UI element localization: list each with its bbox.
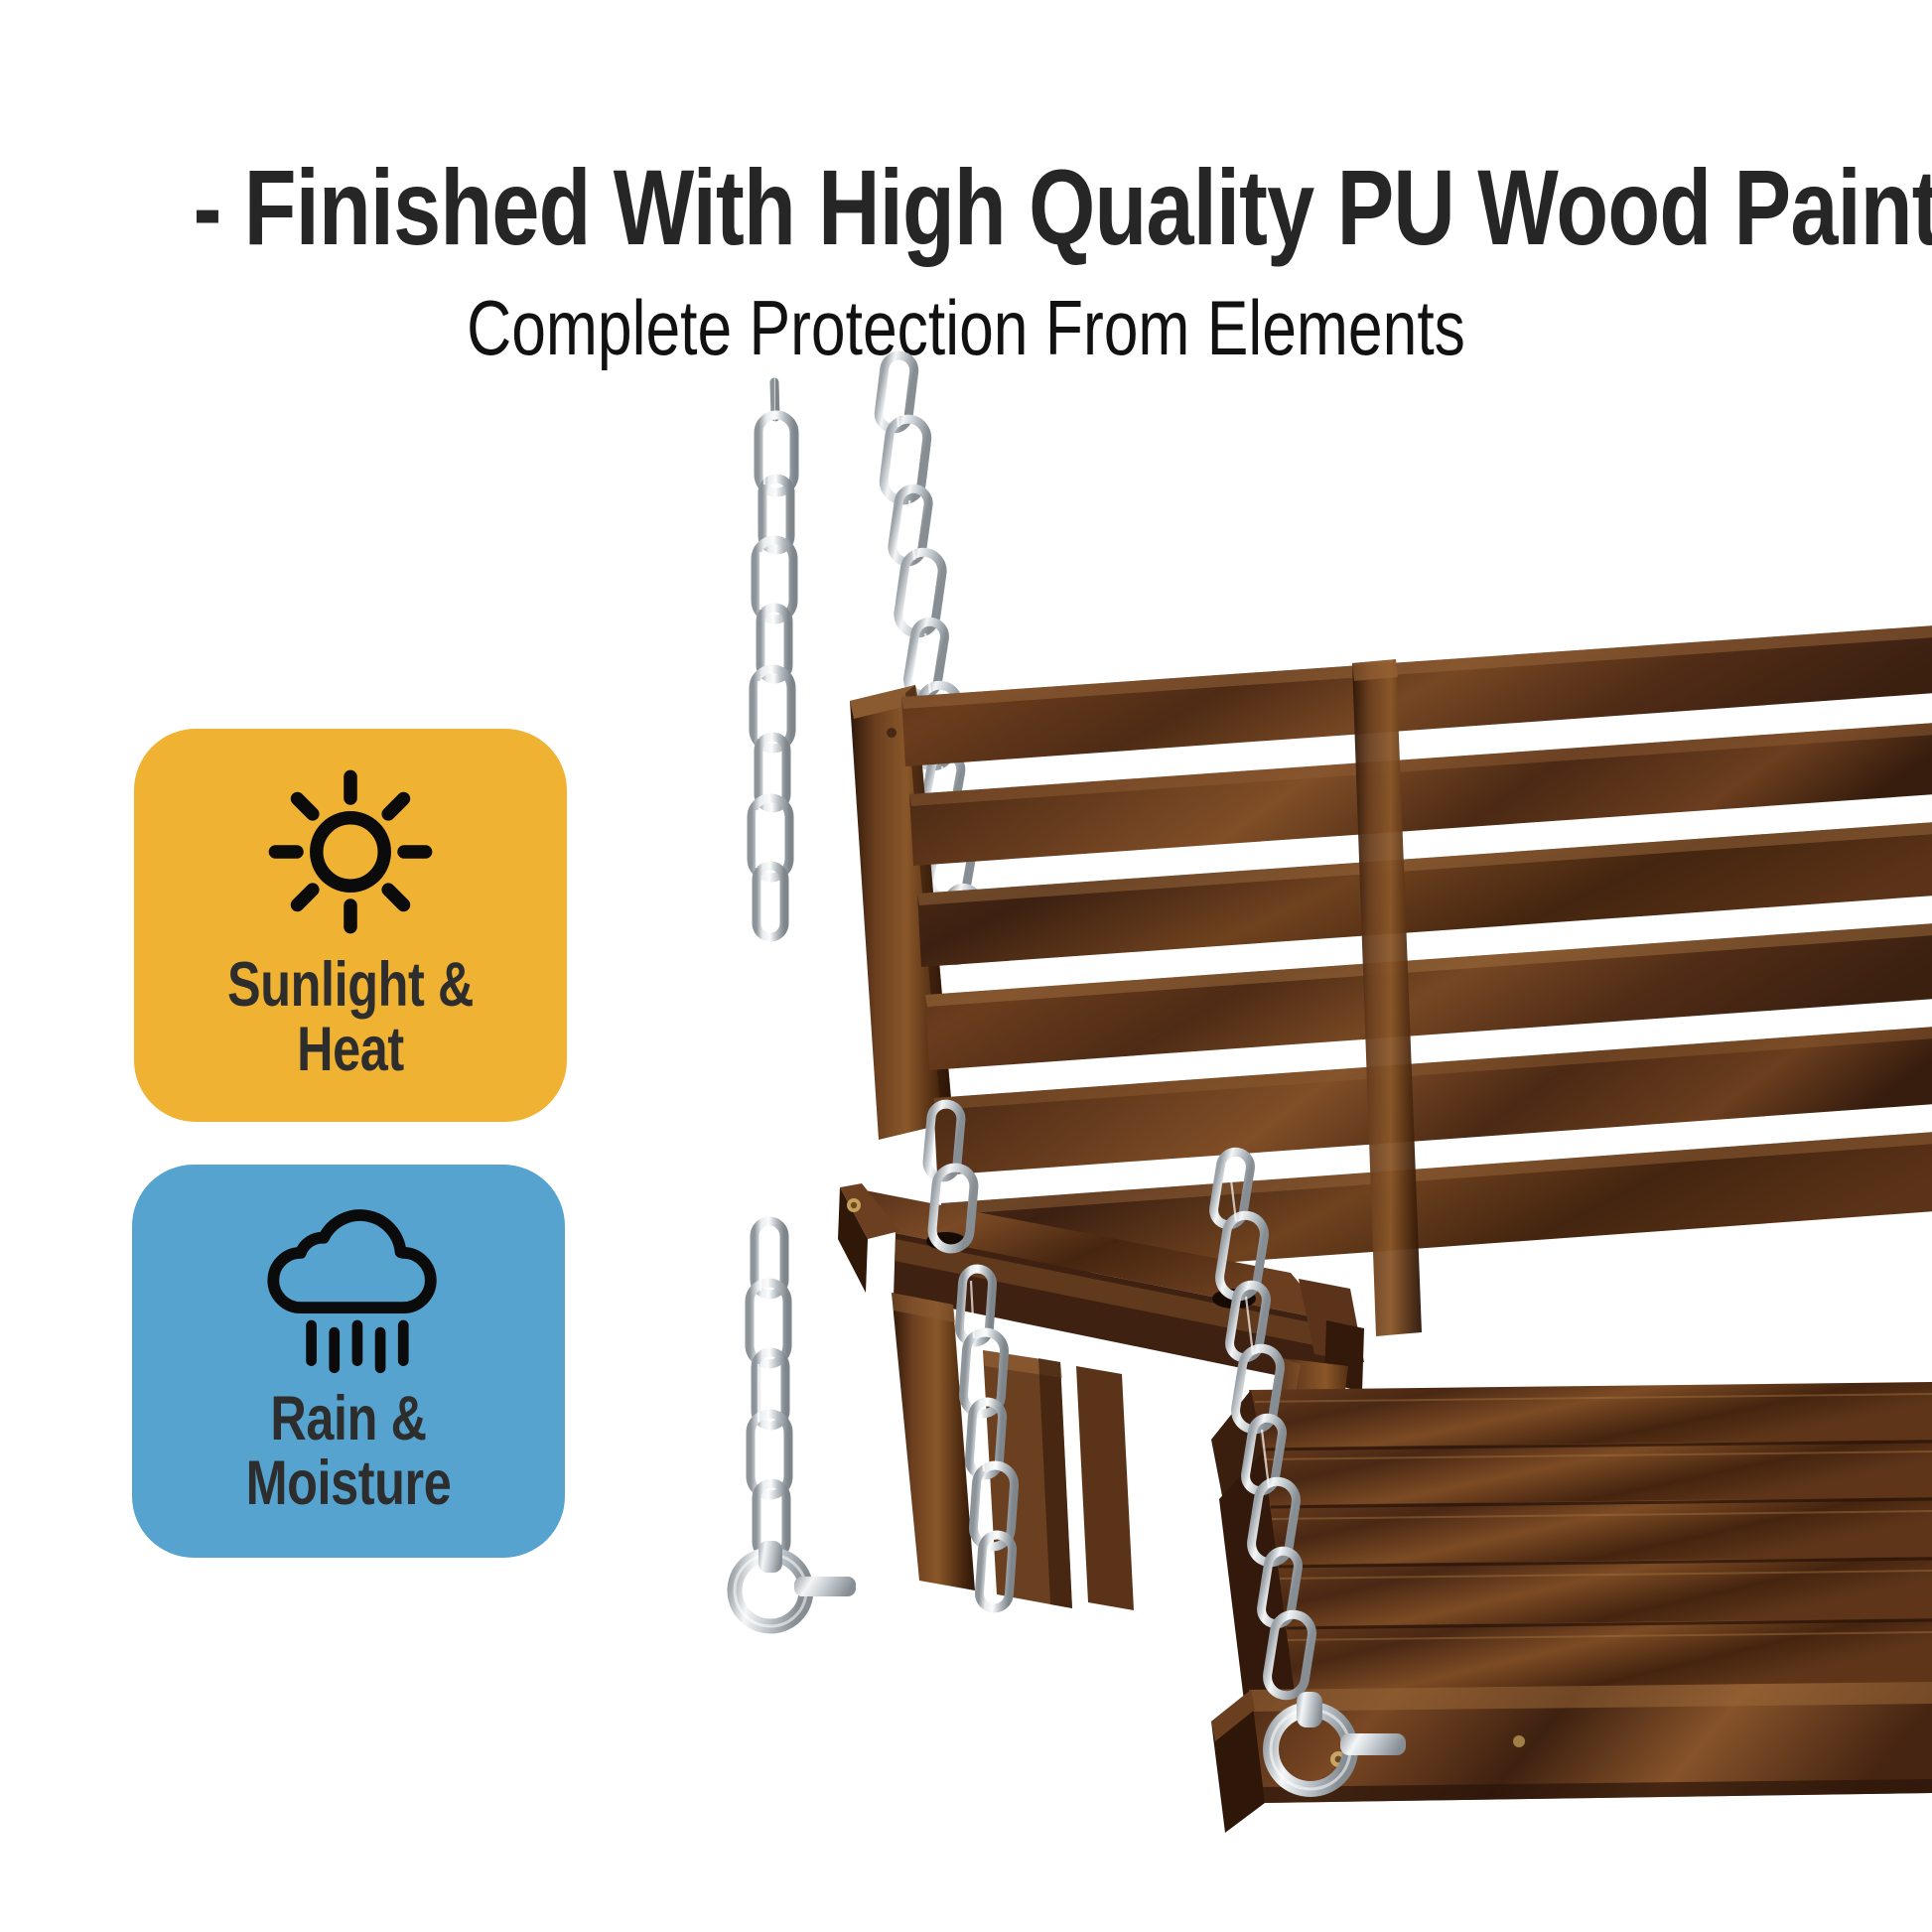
backrest-slats [901, 625, 1932, 1283]
marketing-image: - Finished With High Quality PU Wood Pai… [0, 0, 1932, 1932]
seat-slats [1249, 1382, 1932, 1694]
rain-cloud-icon [132, 1190, 565, 1379]
badge-label-line1: Rain & [176, 1387, 522, 1451]
badge-label-line2: Moisture [176, 1451, 522, 1516]
badge-sunlight-heat[interactable]: Sunlight & Heat [134, 729, 567, 1122]
badge-label-line2: Heat [178, 1018, 524, 1082]
badge-label-line1: Sunlight & [178, 953, 524, 1018]
chain-left-lower [735, 1221, 856, 1626]
page-title: - Finished With High Quality PU Wood Pai… [194, 151, 1739, 264]
rear-frame-slat-2 [1076, 1366, 1134, 1610]
eye-bolt-ring-left [735, 1541, 856, 1626]
sun-icon [134, 762, 567, 941]
badge-sunlight-heat-label: Sunlight & Heat [134, 953, 567, 1082]
chain-left-upper [752, 382, 794, 937]
badge-rain-moisture-label: Rain & Moisture [132, 1387, 565, 1516]
badge-rain-moisture[interactable]: Rain & Moisture [132, 1165, 565, 1558]
product-photo-porch-swing [655, 328, 1932, 1932]
rear-frame-slat [983, 1350, 1072, 1608]
